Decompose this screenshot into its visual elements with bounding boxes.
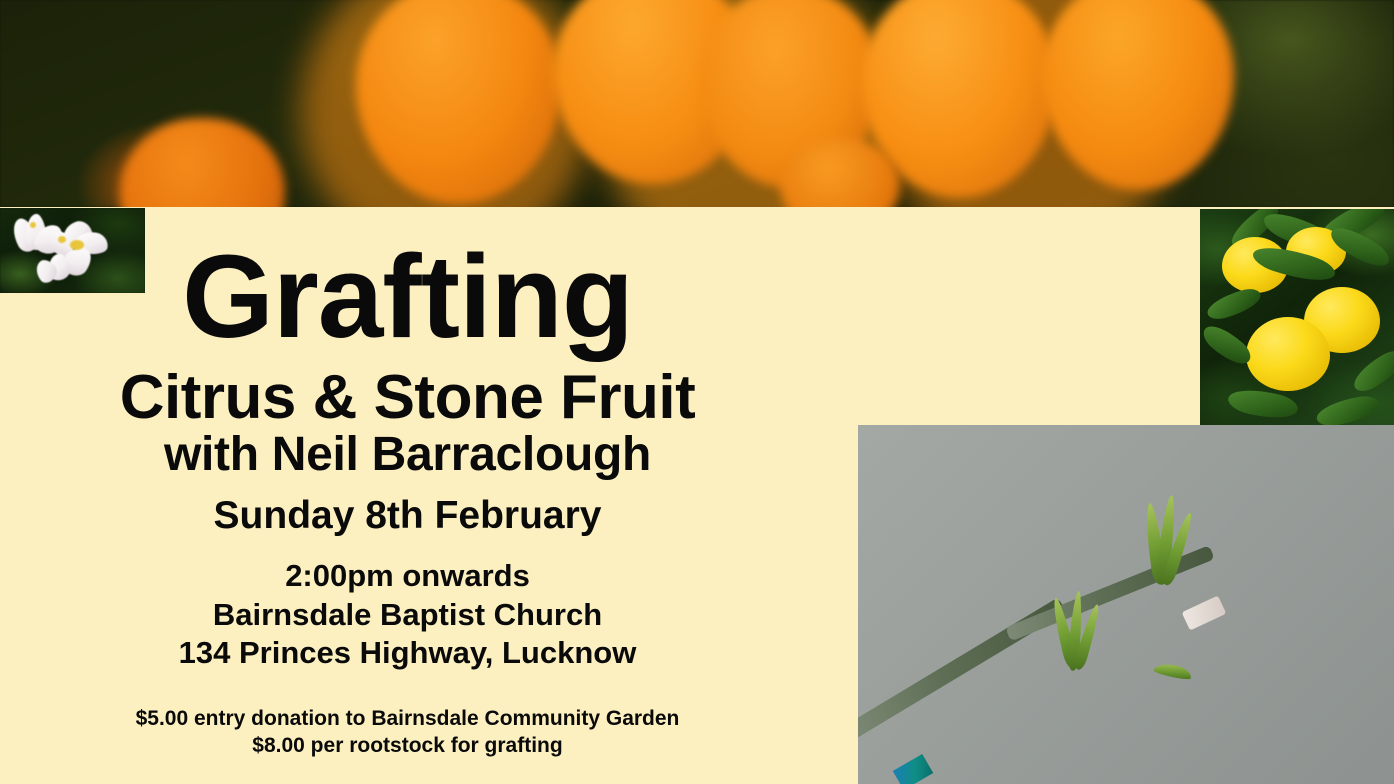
presenter-name: with Neil Barraclough [0,431,815,480]
event-address: 134 Princes Highway, Lucknow [0,634,815,673]
pricing-details: $5.00 entry donation to Bairnsdale Commu… [0,705,815,760]
graft-branch-upper [1005,545,1215,641]
oranges-on-tree-banner [0,0,1394,207]
grafted-branch-photo [858,425,1394,784]
blossom-stamen [30,222,36,228]
event-details: 2:00pm onwards Bairnsdale Baptist Church… [0,557,815,673]
event-date: Sunday 8th February [0,496,815,537]
lemons-on-tree-photo [1200,209,1394,430]
graft-cut-tip [1182,595,1227,630]
rootstock-price: $8.00 per rootstock for grafting [0,732,815,759]
entry-donation-price: $5.00 entry donation to Bairnsdale Commu… [0,705,815,732]
lemon-fruit [1246,317,1330,391]
graft-tape [893,754,933,784]
graft-small-bud [1153,661,1193,681]
event-time: 2:00pm onwards [0,557,815,596]
event-venue: Bairnsdale Baptist Church [0,596,815,635]
poster-canvas: Grafting Citrus & Stone Fruit with Neil … [0,0,1394,784]
poster-subtitle: Citrus & Stone Fruit [0,366,815,429]
poster-text-block: Grafting Citrus & Stone Fruit with Neil … [0,240,815,784]
page-title: Grafting [0,240,815,356]
